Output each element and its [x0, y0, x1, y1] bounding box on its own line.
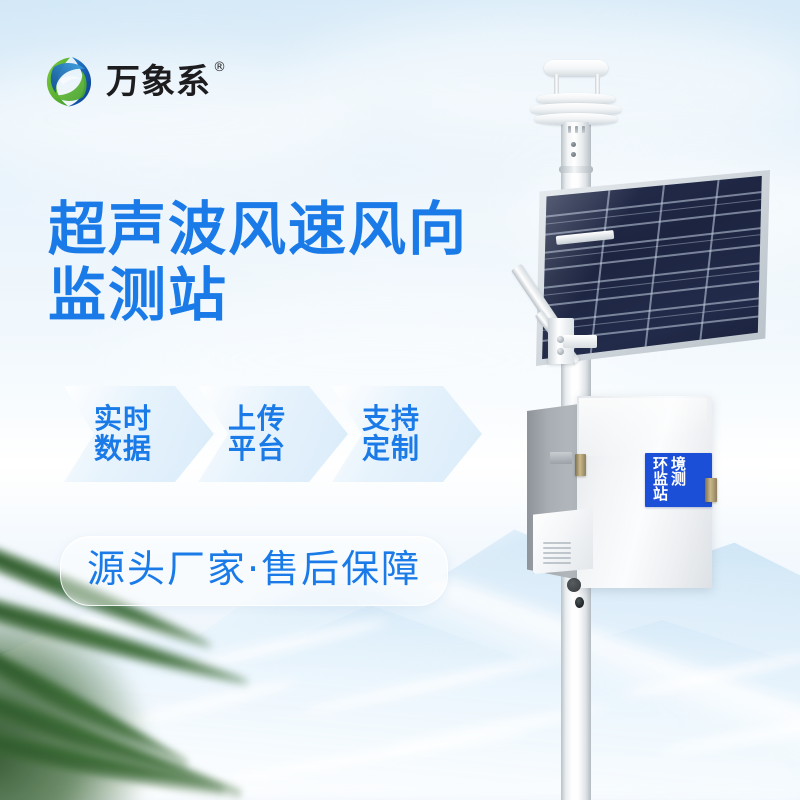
clamp-bolt — [557, 348, 564, 355]
cabinet-highlight — [579, 398, 707, 456]
sensor-port — [571, 152, 576, 157]
cabinet-hinge — [575, 454, 586, 476]
sensor-post — [595, 74, 600, 95]
sensor-port — [571, 142, 576, 147]
trademark-symbol: ® — [213, 61, 227, 74]
ultrasonic-anemometer-sensor — [527, 60, 625, 170]
feature-badge-customization: 支持定制 — [332, 386, 482, 482]
sensor-screw — [568, 126, 571, 133]
badge-label: 上传平台 — [198, 404, 286, 464]
sensor-screw — [582, 126, 585, 133]
battery-sub-enclosure — [533, 508, 593, 574]
cabinet-vent-slot — [550, 452, 572, 464]
control-cabinet: 环境监测站 — [527, 396, 712, 592]
headline-line-2: 监测站 — [48, 262, 478, 328]
badge-label: 支持定制 — [332, 404, 420, 464]
page-title: 超声波风速风向 监测站 — [48, 196, 478, 328]
badge-label: 实时数据 — [64, 404, 152, 464]
guarantee-pill: 源头厂家·售后保障 — [60, 536, 448, 606]
clamp-bolt — [557, 336, 564, 343]
feature-badge-upload-platform: 上传平台 — [198, 386, 348, 482]
sensor-screw — [575, 126, 578, 133]
feature-badge-realtime-data: 实时数据 — [64, 386, 214, 482]
cabinet-bottom-gland — [567, 578, 581, 592]
cabinet-label: 环境监测站 — [645, 453, 712, 507]
brand-name: 万象系® — [106, 65, 211, 99]
feature-badges: 实时数据 上传平台 支持定制 — [64, 386, 466, 482]
pole-clamp-arm — [563, 335, 597, 348]
sensor-post — [554, 74, 559, 95]
headline-line-1: 超声波风速风向 — [48, 196, 478, 262]
product-marketing-banner: 环境监测站 — [0, 0, 800, 800]
brand-logo: 万象系® — [44, 56, 211, 108]
cabinet-latch — [705, 478, 717, 502]
globe-swoosh-logo-icon — [44, 56, 94, 108]
cable-hole — [575, 597, 584, 608]
